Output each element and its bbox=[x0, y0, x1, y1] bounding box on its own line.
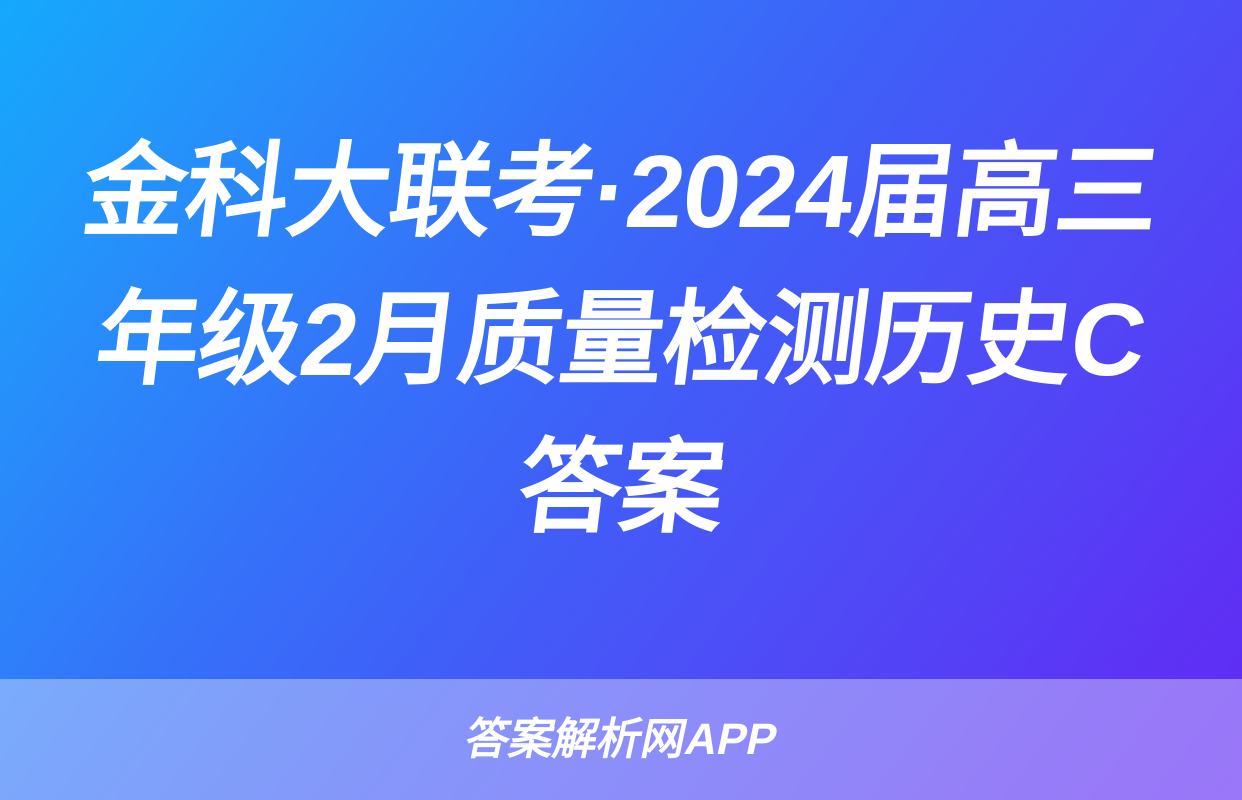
watermark-band: 答案解析网APP bbox=[0, 679, 1242, 800]
title-line-3: 答案 bbox=[510, 414, 732, 562]
watermark-text: 答案解析网APP bbox=[461, 718, 781, 762]
title-line-2: 年级2月质量检测历史C bbox=[88, 266, 1154, 414]
exam-cover-banner: 金科大联考·2024届高三 年级2月质量检测历史C 答案 答案解析网APP bbox=[0, 0, 1242, 800]
title-block: 金科大联考·2024届高三 年级2月质量检测历史C 答案 bbox=[0, 0, 1242, 679]
title-line-1: 金科大联考·2024届高三 bbox=[75, 118, 1168, 266]
